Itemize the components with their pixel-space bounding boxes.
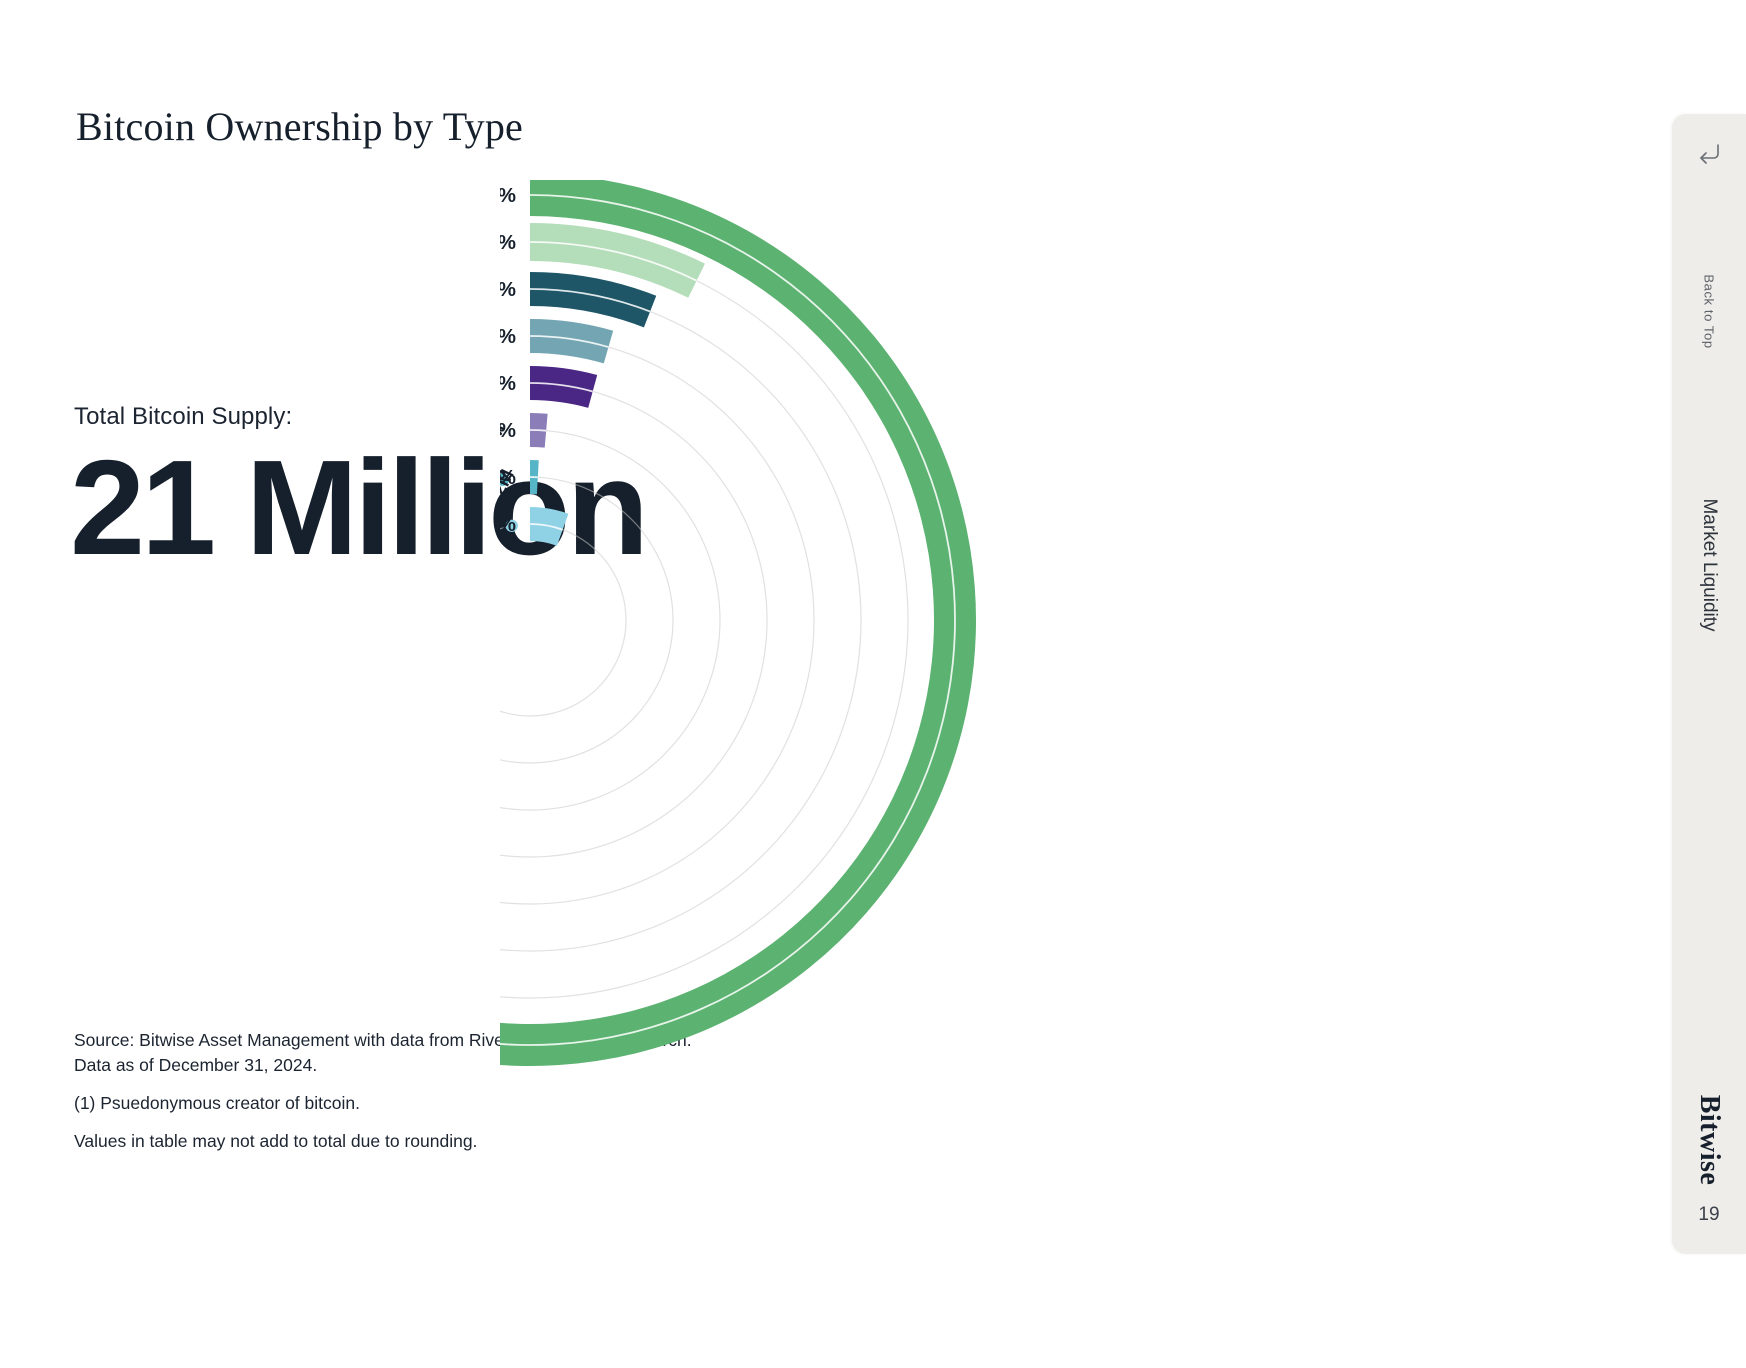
rail-back-to-top-label[interactable]: Back to Top xyxy=(1702,274,1717,348)
chart-svg: Individuals: 69.4%Estimated Lost: 7.5%Fu… xyxy=(500,180,1460,1100)
chart-bar xyxy=(530,319,613,363)
chart-category-label: Businesses: 4.4% xyxy=(500,372,516,395)
chart-category-label: Individuals: 69.4% xyxy=(500,184,516,207)
footnote-rounding: Values in table may not add to total due… xyxy=(74,1129,694,1154)
chart-category-label: To Be Mined: 5.7% xyxy=(500,513,516,536)
chart-category-label: Funds/ETPs: 6.1% xyxy=(500,278,516,301)
right-rail: Back to Top Market Liquidity Bitwise 19 xyxy=(1672,114,1746,1254)
radial-bar-chart: Individuals: 69.4%Estimated Lost: 7.5%Fu… xyxy=(500,180,1460,1100)
chart-bar xyxy=(500,180,976,1066)
total-supply-label: Total Bitcoin Supply: xyxy=(74,403,292,431)
chart-bars xyxy=(500,180,976,1066)
chart-gridline xyxy=(500,382,768,857)
chart-bar xyxy=(530,366,597,408)
chart-category-label: Estimated Lost: 7.5% xyxy=(500,231,516,254)
chart-gridline xyxy=(500,523,627,716)
back-to-top-arrow-icon[interactable] xyxy=(1696,142,1722,169)
rail-brand-logo: Bitwise xyxy=(1693,1095,1725,1186)
chart-gridline xyxy=(500,476,674,763)
slide-canvas: Bitcoin Ownership by Type Total Bitcoin … xyxy=(0,0,1480,1368)
rail-section-label[interactable]: Market Liquidity xyxy=(1698,498,1720,631)
chart-bar xyxy=(530,272,656,327)
chart-category-label: Satoshi¹: 4.6% xyxy=(500,325,516,348)
page-title: Bitcoin Ownership by Type xyxy=(76,103,523,150)
chart-bar-hairline xyxy=(530,476,538,478)
page-number: 19 xyxy=(1672,1204,1746,1226)
